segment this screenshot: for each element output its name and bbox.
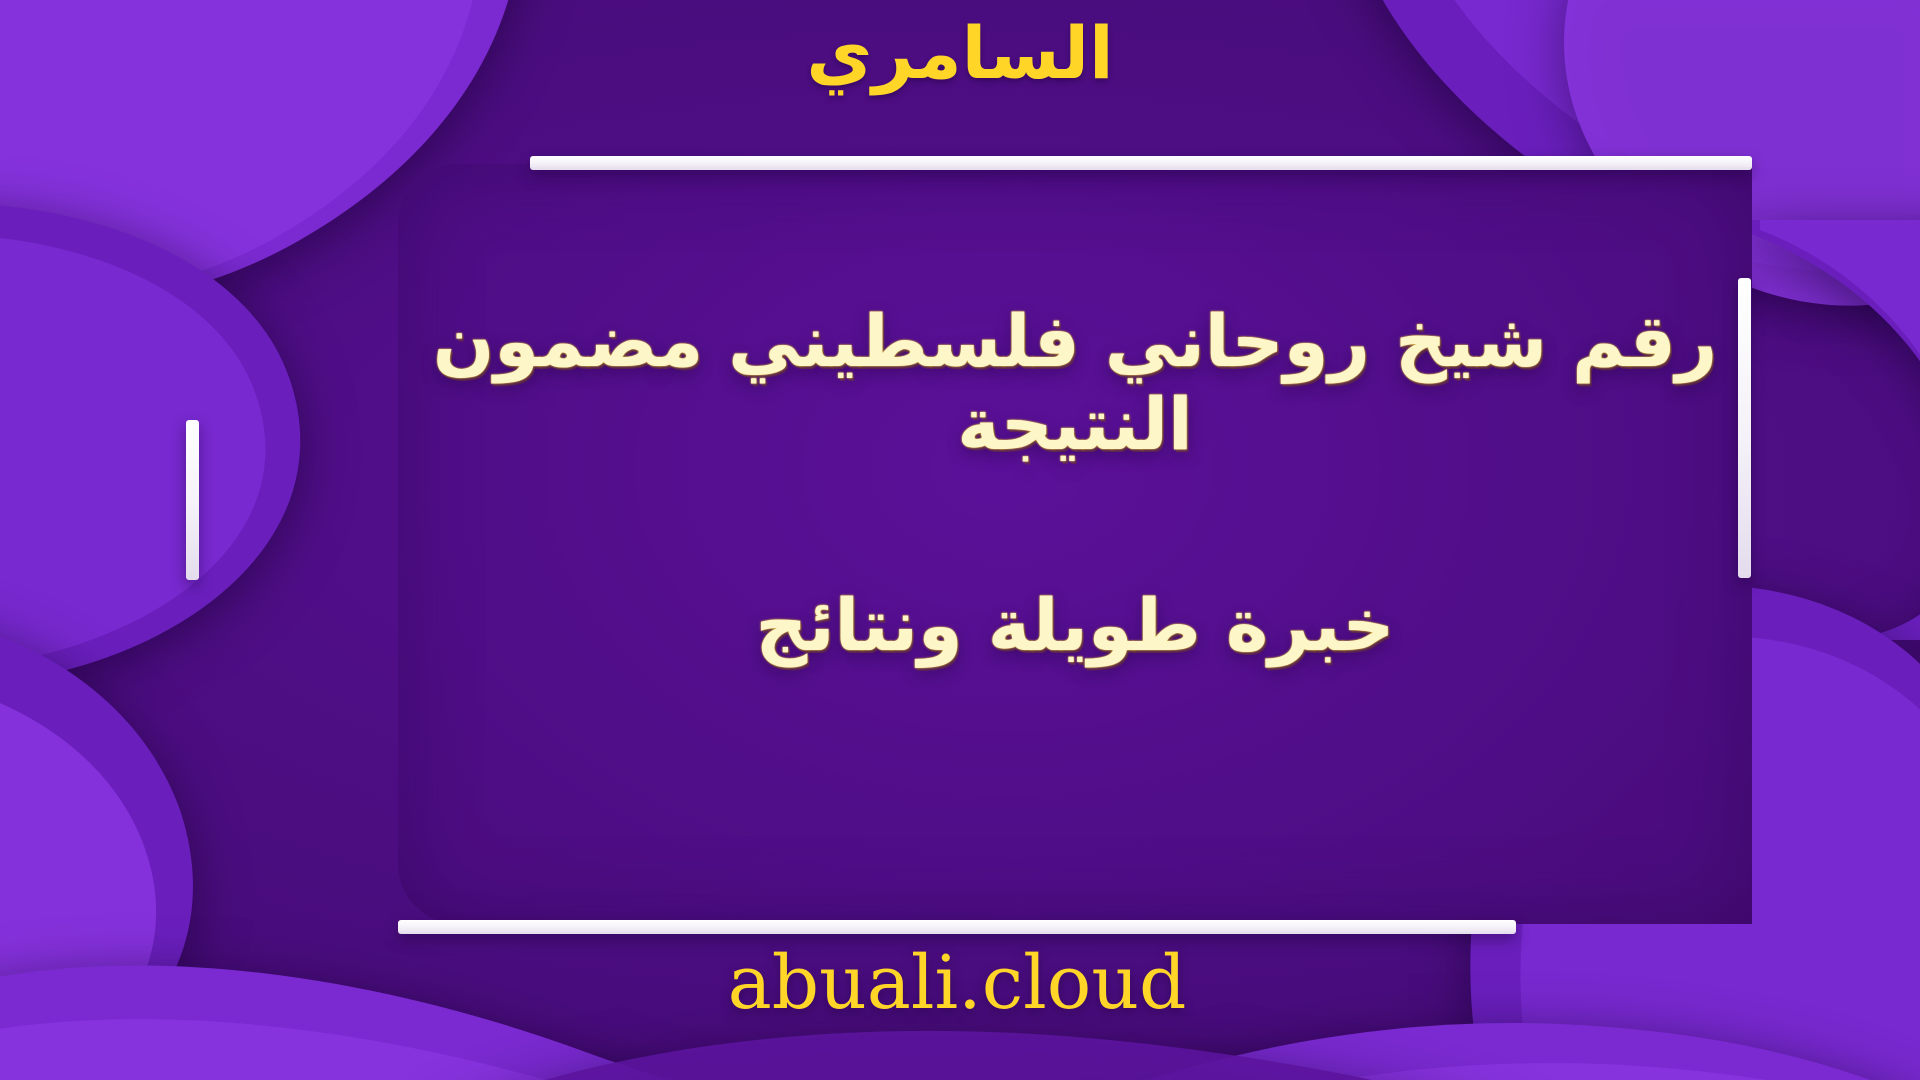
frame-top-rule [530,156,1752,170]
brand-title: السامري [0,8,1920,98]
banner-canvas: السامري رقم شيخ روحاني فلسطيني مضمون الن… [0,0,1920,1080]
primary-headline: رقم شيخ روحاني فلسطيني مضمون النتيجة [398,300,1752,466]
frame-bottom-rule [398,920,1516,934]
headline-block: رقم شيخ روحاني فلسطيني مضمون النتيجة خبر… [398,300,1752,666]
footer-website-url: abuali.cloud [398,946,1516,1020]
frame-left-rule [186,420,199,580]
secondary-headline: خبرة طويلة ونتائج [398,584,1752,667]
